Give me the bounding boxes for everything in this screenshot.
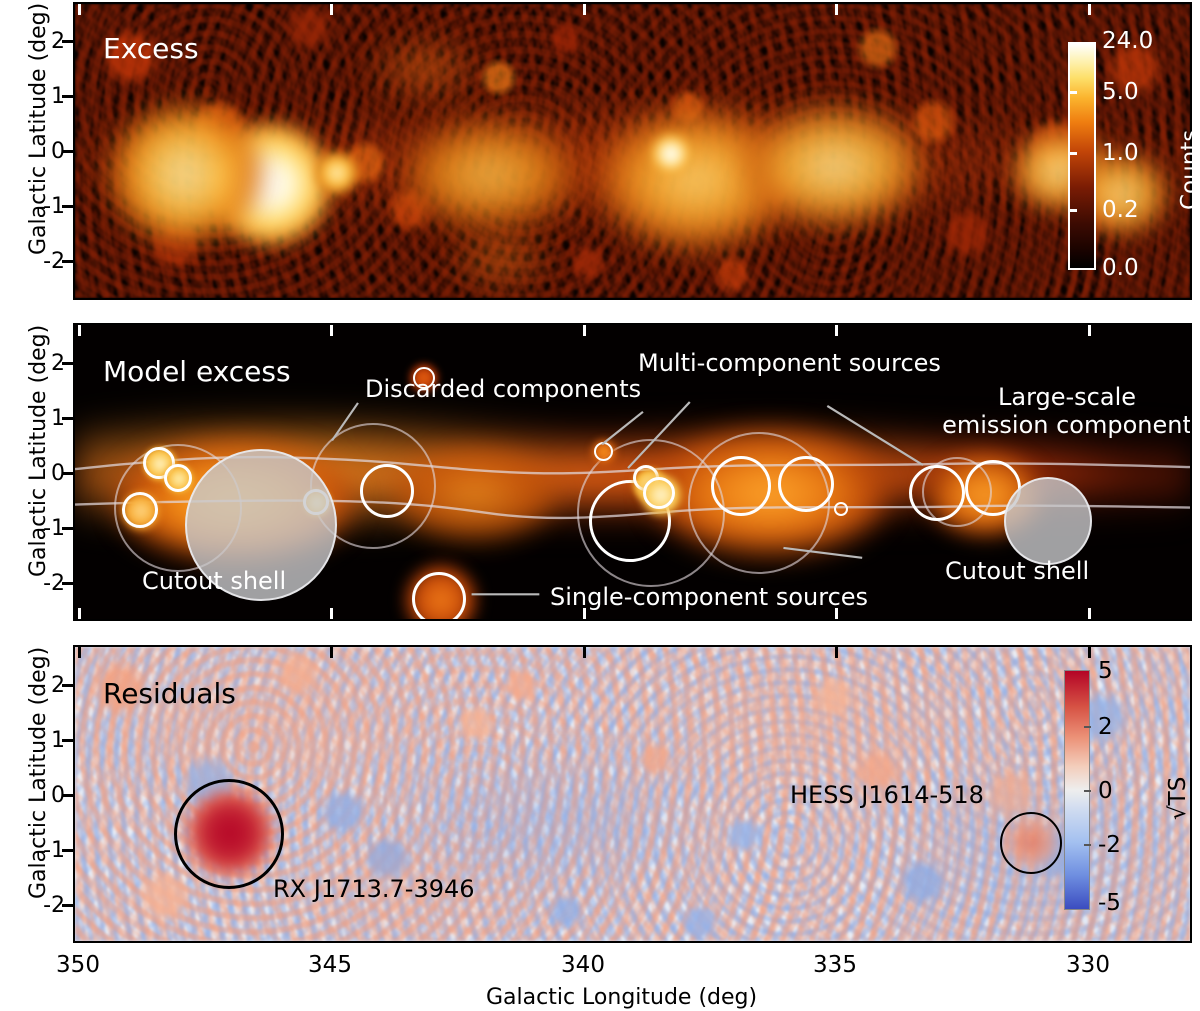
colorbar-tick-label: 0.0 [1102,255,1139,281]
y-axis-tick [62,472,74,475]
y-axis-tick [62,849,74,852]
colorbar-label-counts: Counts [1177,130,1200,210]
y-axis-tick [62,260,74,263]
y-tick-label: 0 [20,461,65,486]
colorbar-label-sqrt-ts: √TS [1165,777,1191,820]
y-axis-tick [62,40,74,43]
colorbar-tick [1068,209,1077,212]
annotation-large-scale-line2: emission component [917,411,1192,439]
panel-tick-bottom [835,608,838,619]
y-tick-label: -2 [20,249,65,274]
colorbar-tick [1084,790,1091,792]
y-tick-label: 1 [20,406,65,431]
y-axis-tick [62,205,74,208]
excess-diffuse-patch-2 [445,224,555,294]
panel-tick-top [835,325,838,336]
annotation-multi-component-sources: Multi-component sources [638,349,941,377]
panel-tick-top [1088,325,1091,336]
panel-tick-top [78,4,81,15]
colorbar-tick-label: 24.0 [1102,28,1153,54]
panel-title-model: Model excess [103,355,291,388]
excess-source-c [405,122,575,227]
panel-title-residuals: Residuals [103,677,236,710]
excess-diffuse-patch-1 [365,34,485,104]
annotation-cutout-shell-left: Cutout shell [142,567,286,595]
x-tick-label: 335 [795,952,875,978]
y-tick-label: 0 [20,139,65,164]
colorbar-tick-label: 2 [1098,714,1113,740]
y-axis-tick [62,794,74,797]
y-tick-label: 0 [20,783,65,808]
y-axis-tick [62,150,74,153]
panel-model-excess: Model excess Discarded components Multi-… [73,323,1192,621]
colorbar-excess [1068,42,1096,270]
y-tick-label: -1 [20,516,65,541]
panel-tick-top [583,647,586,658]
panel-tick-top [583,4,586,15]
y-axis-tick [62,95,74,98]
y-axis-tick [62,582,74,585]
panel-tick-top [330,325,333,336]
x-tick-label: 340 [543,952,623,978]
panel-tick-top [330,4,333,15]
colorbar-tick [1068,91,1077,94]
y-axis-tick [62,527,74,530]
source-region-hess-j1614[interactable] [1000,812,1062,874]
colorbar-tick [1084,726,1091,728]
annotation-single-component-sources: Single-component sources [550,583,868,611]
x-tick-label: 350 [38,952,118,978]
y-axis-tick [62,684,74,687]
panel-residuals: RX J1713.7-3946 HESS J1614-518 Residuals [73,645,1192,943]
y-tick-label: -2 [20,571,65,596]
colorbar-tick [1068,152,1077,155]
source-region-rxj1713[interactable] [174,779,284,889]
excess-source-b [316,152,358,194]
excess-source-f [747,109,922,224]
y-tick-label: 1 [20,84,65,109]
colorbar-tick-label: -5 [1098,890,1121,916]
panel-tick-top [330,647,333,658]
panel-tick-bottom [583,608,586,619]
excess-source-e [651,134,691,174]
annotation-large-scale-line1: Large-scale [917,383,1192,411]
panel-tick-bottom [78,608,81,619]
figure-root: Galactic Longitude (deg) Galactic Latitu… [0,0,1200,1011]
colorbar-tick-label: -2 [1098,832,1121,858]
panel-tick-top [835,647,838,658]
y-axis-tick [62,417,74,420]
y-tick-label: -1 [20,838,65,863]
colorbar-tick-label: 0.2 [1102,197,1139,223]
colorbar-tick-label: 1.0 [1102,140,1139,166]
panel-tick-top [78,325,81,336]
y-tick-label: -1 [20,194,65,219]
colorbar-tick [1084,844,1091,846]
panel-tick-top [1088,4,1091,15]
y-tick-label: 2 [20,29,65,54]
panel-tick-bottom [330,608,333,619]
panel-tick-top [583,325,586,336]
y-axis-tick [62,362,74,365]
colorbar-tick-label: 5.0 [1102,79,1139,105]
annotation-discarded-components: Discarded components [365,375,641,403]
x-tick-label: 345 [290,952,370,978]
excess-source-a [110,109,260,239]
y-tick-label: 1 [20,728,65,753]
panel-excess: Excess [73,2,1192,300]
panel-tick-bottom [1088,608,1091,619]
y-tick-label: 2 [20,351,65,376]
panel-tick-top [78,647,81,658]
x-axis-label: Galactic Longitude (deg) [486,985,757,1010]
colorbar-tick-label: 5 [1098,658,1113,684]
panel-title-excess: Excess [103,32,199,65]
panel-tick-top [1088,647,1091,658]
annotation-cutout-shell-right: Cutout shell [945,557,1089,585]
x-tick-label: 330 [1048,952,1128,978]
y-axis-tick [62,904,74,907]
y-tick-label: -2 [20,893,65,918]
y-axis-tick [62,739,74,742]
panel-tick-top [835,4,838,15]
y-tick-label: 2 [20,673,65,698]
colorbar-tick-label: 0 [1098,778,1113,804]
source-label-rxj1713: RX J1713.7-3946 [273,875,475,903]
source-label-hess-j1614: HESS J1614-518 [790,781,984,809]
